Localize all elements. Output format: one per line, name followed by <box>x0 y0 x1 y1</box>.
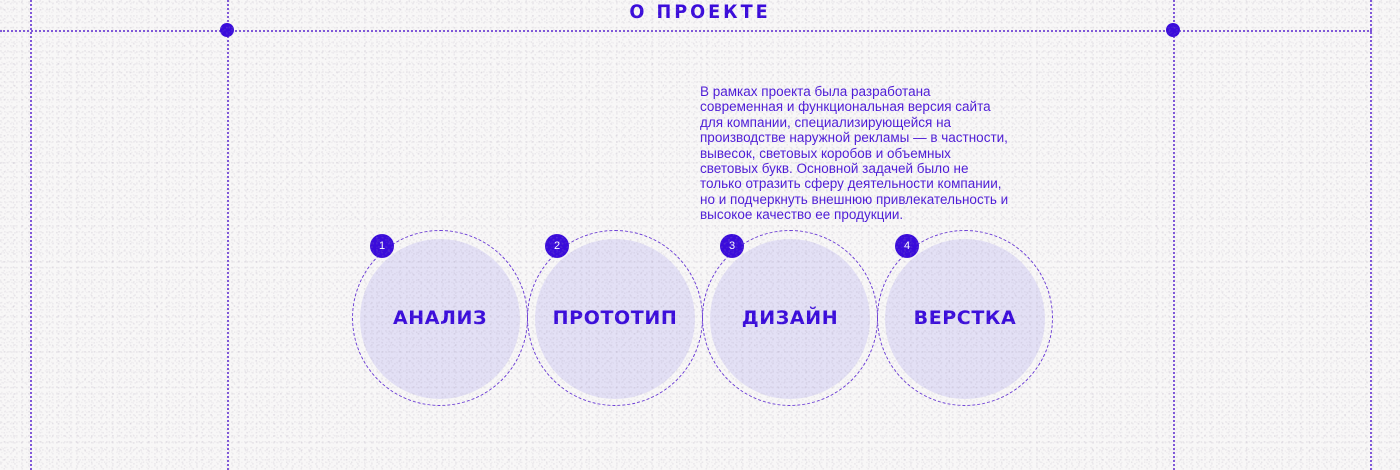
step-number-badge: 3 <box>720 234 744 258</box>
process-step-design[interactable]: ДИЗАЙН 3 <box>702 230 878 406</box>
guide-left-margin <box>30 0 32 470</box>
process-step-prototype[interactable]: ПРОТОТИП 2 <box>527 230 703 406</box>
guide-content-left <box>227 0 229 470</box>
step-number-badge: 1 <box>370 234 394 258</box>
guide-node-left <box>220 23 234 37</box>
guide-content-right <box>1173 0 1175 470</box>
guide-node-right <box>1166 23 1180 37</box>
about-project-section: О ПРОЕКТЕ В рамках проекта была разработ… <box>0 0 1400 470</box>
project-description: В рамках проекта была разработана соврем… <box>700 84 1012 223</box>
step-number-badge: 2 <box>545 234 569 258</box>
step-number-badge: 4 <box>895 234 919 258</box>
guide-right-margin <box>1370 0 1372 470</box>
page-title: О ПРОЕКТЕ <box>49 2 1351 22</box>
process-step-analysis[interactable]: АНАЛИЗ 1 <box>352 230 528 406</box>
process-step-markup[interactable]: ВЕРСТКА 4 <box>877 230 1053 406</box>
